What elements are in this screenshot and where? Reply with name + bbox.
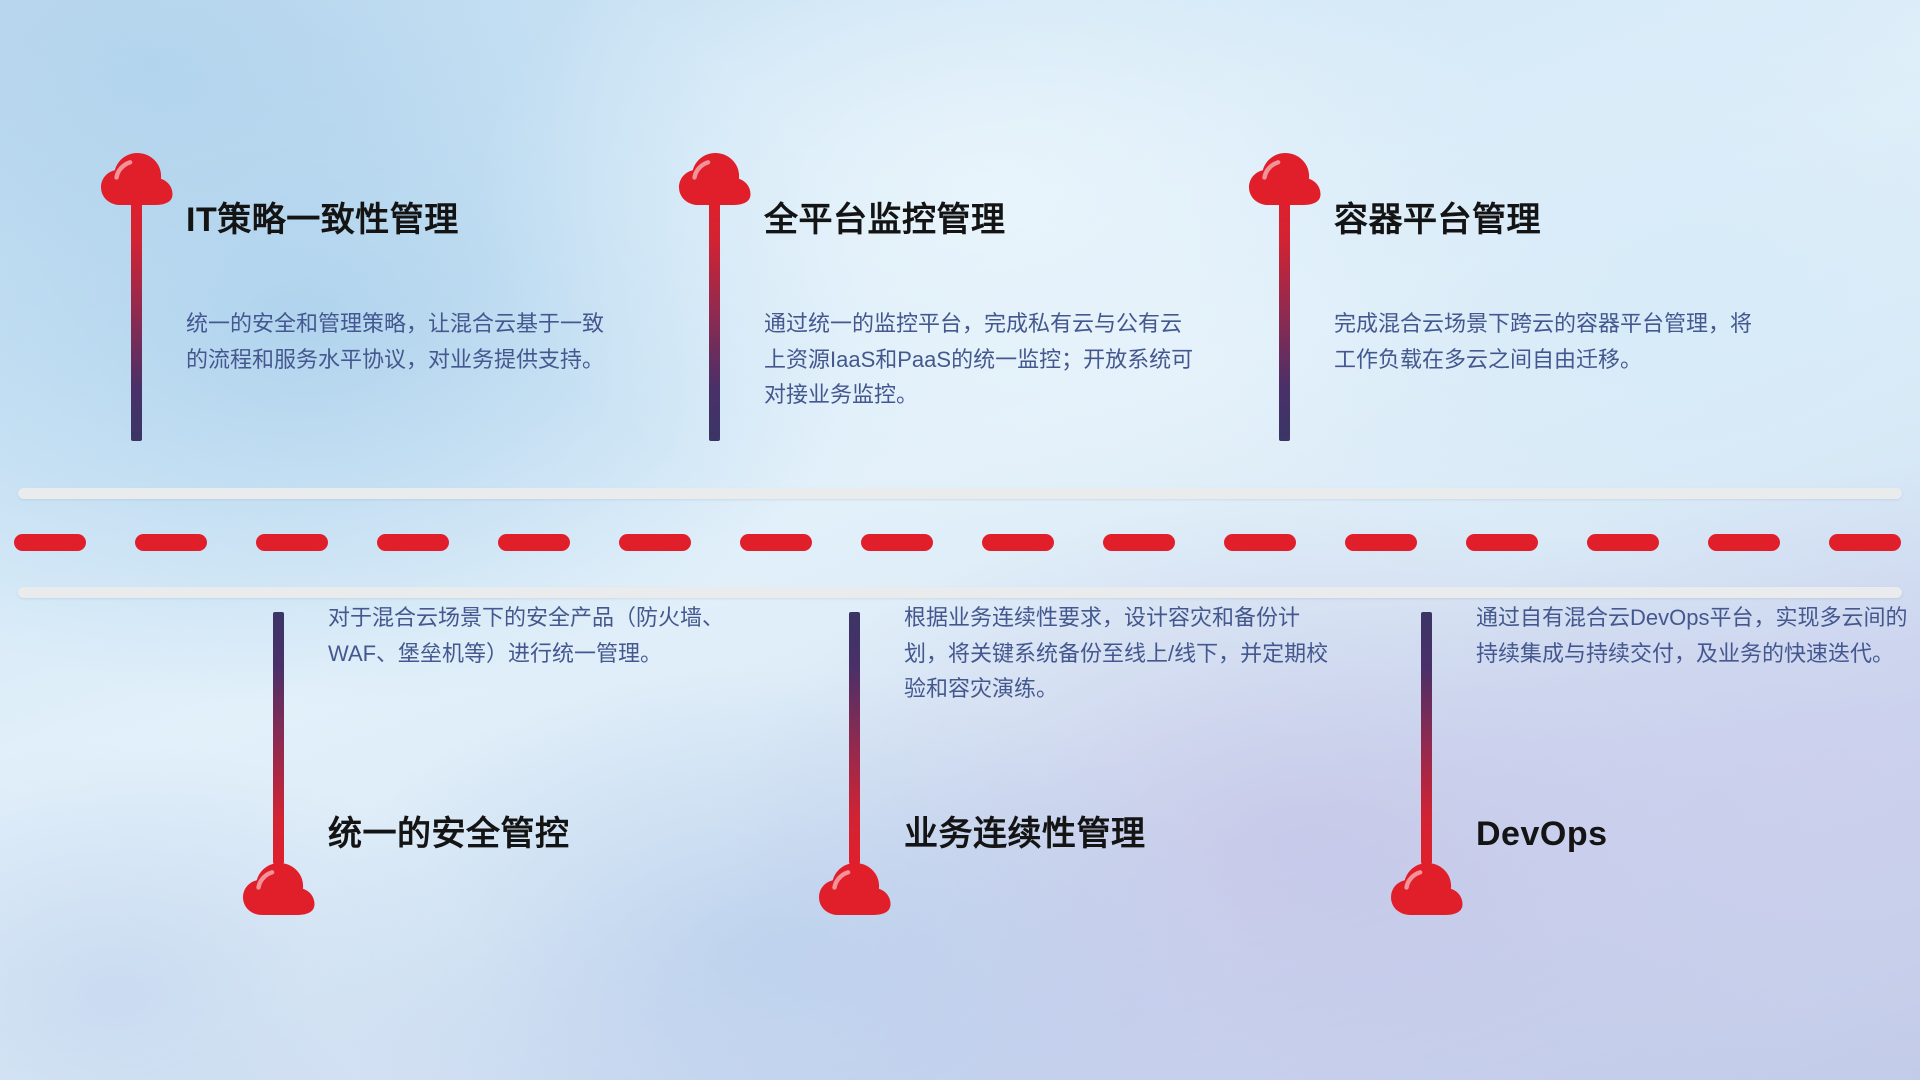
feature-heading: 业务连续性管理 — [904, 817, 1146, 851]
divider-dash — [14, 534, 86, 551]
cloud-icon — [818, 860, 892, 916]
divider-dash — [1224, 534, 1296, 551]
feature-body: 通过自有混合云DevOps平台，实现多云间的持续集成与持续交付，及业务的快速迭代… — [1476, 600, 1912, 671]
cloud-icon — [678, 150, 752, 206]
divider-dash — [1587, 534, 1659, 551]
divider-dash — [256, 534, 328, 551]
feature-body: 完成混合云场景下跨云的容器平台管理，将工作负载在多云之间自由迁移。 — [1334, 306, 1770, 377]
cloud-icon — [242, 860, 316, 916]
divider-railing-bottom — [18, 587, 1902, 598]
divider-dash — [619, 534, 691, 551]
feature-body: 根据业务连续性要求，设计容灾和备份计划，将关键系统备份至线上/线下，并定期校验和… — [904, 600, 1340, 707]
feature-heading: 统一的安全管控 — [328, 817, 570, 851]
divider-dash — [1829, 534, 1901, 551]
divider-dash — [740, 534, 812, 551]
feature-heading: DevOps — [1476, 817, 1608, 851]
feature-heading: 容器平台管理 — [1334, 203, 1541, 237]
divider-dash — [982, 534, 1054, 551]
cloud-icon — [1248, 150, 1322, 206]
divider-dash — [377, 534, 449, 551]
divider-dash — [861, 534, 933, 551]
divider-dash — [135, 534, 207, 551]
divider-railing-top — [18, 488, 1902, 499]
stem-line — [1279, 196, 1290, 441]
divider-dashes — [0, 534, 1920, 551]
feature-heading: IT策略一致性管理 — [186, 203, 459, 237]
divider-dash — [1466, 534, 1538, 551]
stem-line — [849, 612, 860, 864]
divider-dash — [1345, 534, 1417, 551]
divider-dash — [498, 534, 570, 551]
stem-line — [131, 196, 142, 441]
feature-heading: 全平台监控管理 — [764, 203, 1006, 237]
cloud-icon — [1390, 860, 1464, 916]
divider-dash — [1103, 534, 1175, 551]
stem-line — [1421, 612, 1432, 864]
divider-dash — [1708, 534, 1780, 551]
feature-body: 统一的安全和管理策略，让混合云基于一致的流程和服务水平协议，对业务提供支持。 — [186, 306, 622, 377]
stem-line — [273, 612, 284, 864]
feature-body: 对于混合云场景下的安全产品（防火墙、WAF、堡垒机等）进行统一管理。 — [328, 600, 764, 671]
road-divider — [0, 488, 1920, 598]
cloud-icon — [100, 150, 174, 206]
feature-body: 通过统一的监控平台，完成私有云与公有云上资源IaaS和PaaS的统一监控；开放系… — [764, 306, 1200, 413]
stem-line — [709, 196, 720, 441]
